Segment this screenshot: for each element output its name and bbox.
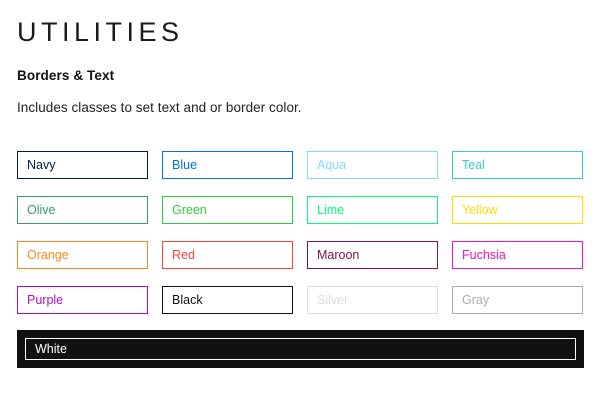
page-title: UTILITIES	[17, 0, 583, 48]
color-swatch-label: Purple	[27, 293, 63, 307]
color-swatch-navy: Navy	[17, 151, 148, 179]
color-swatch-green: Green	[162, 196, 293, 224]
color-swatch-lime: Lime	[307, 196, 438, 224]
color-swatch-olive: Olive	[17, 196, 148, 224]
color-swatch-label: Red	[172, 248, 195, 262]
color-swatch-label: Gray	[462, 293, 489, 307]
color-swatch-teal: Teal	[452, 151, 583, 179]
inverted-swatch-bar: White	[17, 330, 584, 368]
color-swatch-fuchsia: Fuchsia	[452, 241, 583, 269]
color-swatch-label: Green	[172, 203, 207, 217]
color-swatch-label: Lime	[317, 203, 344, 217]
color-swatch-label: White	[35, 342, 67, 356]
color-swatch-white: White	[25, 338, 576, 360]
color-swatch-purple: Purple	[17, 286, 148, 314]
utilities-page: UTILITIES Borders & Text Includes classe…	[0, 0, 600, 400]
color-swatch-label: Teal	[462, 158, 485, 172]
color-swatch-label: Orange	[27, 248, 69, 262]
color-swatch-label: Silver	[317, 293, 348, 307]
color-swatch-blue: Blue	[162, 151, 293, 179]
color-swatch-label: Maroon	[317, 248, 359, 262]
color-swatch-black: Black	[162, 286, 293, 314]
color-swatch-aqua: Aqua	[307, 151, 438, 179]
color-swatch-yellow: Yellow	[452, 196, 583, 224]
color-swatch-label: Black	[172, 293, 203, 307]
color-swatch-label: Olive	[27, 203, 55, 217]
color-swatch-label: Yellow	[462, 203, 498, 217]
color-swatch-silver: Silver	[307, 286, 438, 314]
section-title: Borders & Text	[17, 48, 583, 83]
color-swatch-label: Blue	[172, 158, 197, 172]
color-swatch-label: Fuchsia	[462, 248, 506, 262]
color-swatch-maroon: Maroon	[307, 241, 438, 269]
section-description: Includes classes to set text and or bord…	[17, 83, 583, 115]
color-swatch-label: Aqua	[317, 158, 346, 172]
color-swatch-grid: NavyBlueAquaTealOliveGreenLimeYellowOran…	[17, 151, 584, 314]
color-swatch-orange: Orange	[17, 241, 148, 269]
color-swatch-red: Red	[162, 241, 293, 269]
color-swatch-label: Navy	[27, 158, 55, 172]
color-swatch-gray: Gray	[452, 286, 583, 314]
